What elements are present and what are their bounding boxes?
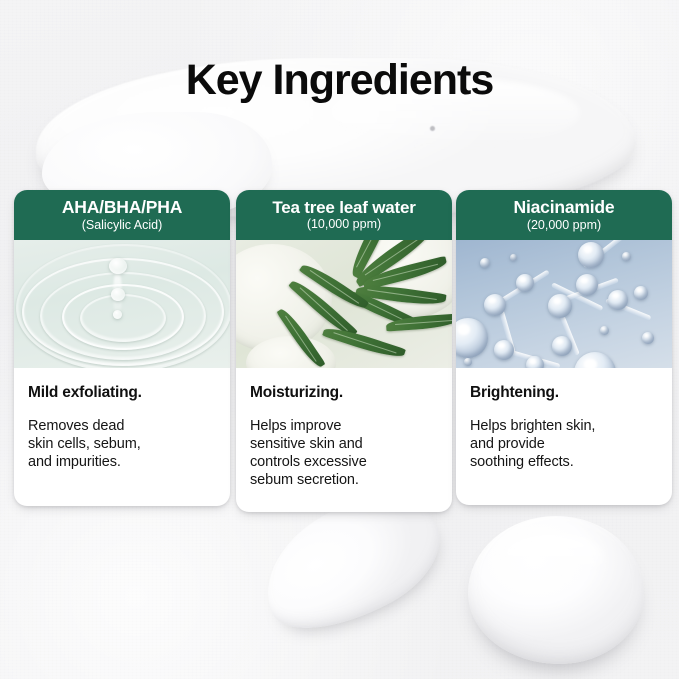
ingredient-card-aha-bha-pha: AHA/BHA/PHA (Salicylic Acid) Mild exfoli… <box>14 190 230 506</box>
cream-speck <box>430 126 435 131</box>
ingredient-card-niacinamide: Niacinamide (20,000 ppm) <box>456 190 672 505</box>
page-title: Key Ingredients <box>0 56 679 105</box>
card-benefit: Moisturizing. <box>250 384 438 402</box>
tea-tree-leaf-icon <box>236 240 452 368</box>
card-body: Mild exfoliating. Removes dead skin cell… <box>14 368 230 506</box>
card-description: Helps brighten skin, and provide soothin… <box>470 417 658 472</box>
card-body: Brightening. Helps brighten skin, and pr… <box>456 368 672 505</box>
card-header-subtitle: (20,000 ppm) <box>527 219 601 232</box>
card-description: Removes dead skin cells, sebum, and impu… <box>28 417 216 472</box>
card-benefit: Brightening. <box>470 384 658 402</box>
ingredient-card-tea-tree-leaf-water: Tea tree leaf water (10,000 ppm) Moistur… <box>236 190 452 512</box>
cream-dollop-highlight <box>500 534 604 580</box>
ingredients-infographic: Key Ingredients AHA/BHA/PHA (Salicylic A… <box>0 0 679 679</box>
card-header: Tea tree leaf water (10,000 ppm) <box>236 190 452 240</box>
card-header-subtitle: (10,000 ppm) <box>307 218 381 231</box>
molecule-structure-icon <box>456 240 672 368</box>
card-body: Moisturizing. Helps improve sensitive sk… <box>236 368 452 512</box>
card-header-title: AHA/BHA/PHA <box>62 198 182 216</box>
card-header-title: Niacinamide <box>514 198 615 216</box>
card-header: Niacinamide (20,000 ppm) <box>456 190 672 240</box>
card-header-subtitle: (Salicylic Acid) <box>82 219 163 232</box>
card-header: AHA/BHA/PHA (Salicylic Acid) <box>14 190 230 240</box>
card-header-title: Tea tree leaf water <box>272 199 415 217</box>
card-description: Helps improve sensitive skin and control… <box>250 417 438 490</box>
water-ripple-icon <box>14 240 230 368</box>
card-benefit: Mild exfoliating. <box>28 384 216 402</box>
